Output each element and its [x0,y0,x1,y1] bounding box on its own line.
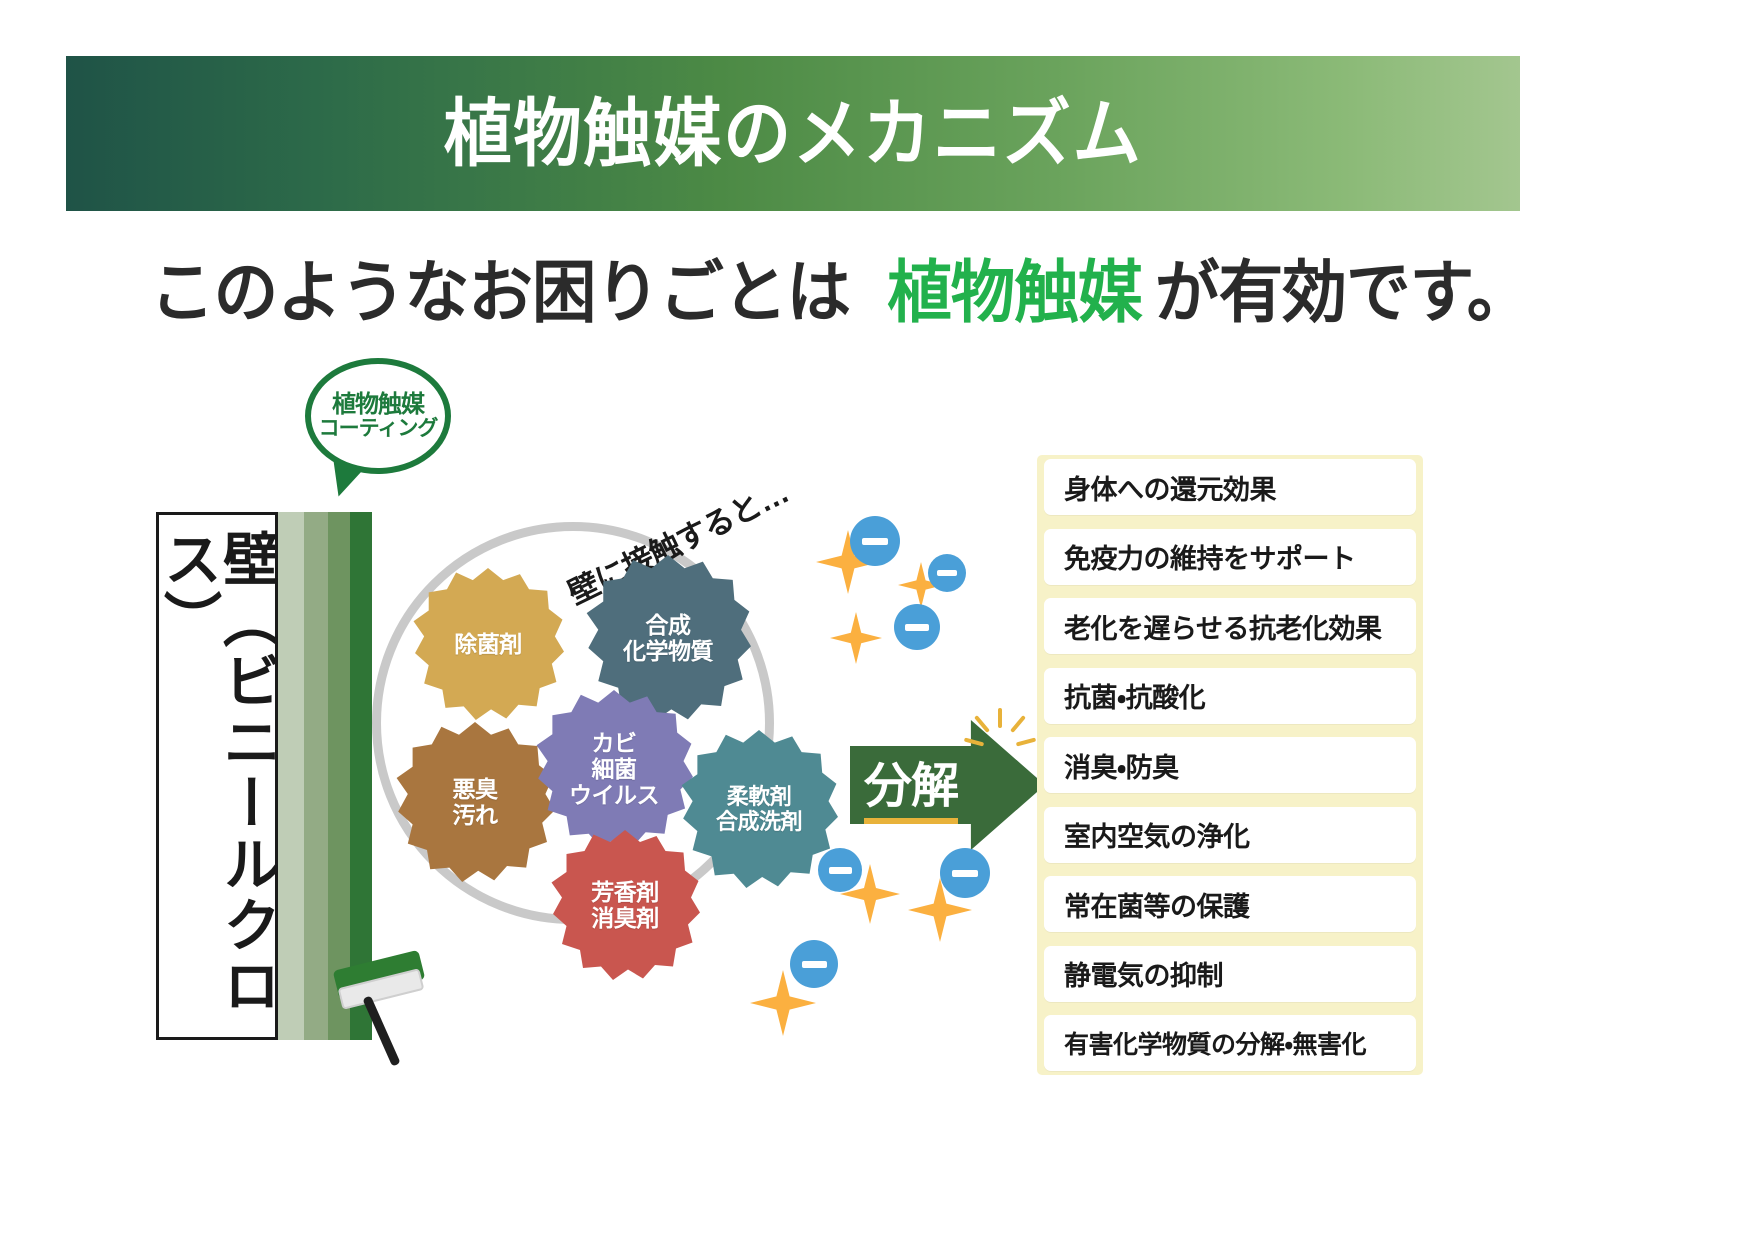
coating-badge-line1: 植物触媒 [332,392,424,417]
benefit-item[interactable]: 常在菌等の保護 [1044,876,1416,932]
subtitle-part2: が有効です。 [1155,237,1530,336]
benefit-item[interactable]: 抗菌・抗酸化 [1044,668,1416,724]
negative-ion-icon [818,848,862,892]
blob-gosei-line1: 合成 [646,612,691,638]
benefit-item[interactable]: 身体への還元効果 [1044,459,1416,515]
wall-layer-1 [278,512,304,1040]
blob-houkou-line1: 芳香剤 [591,879,659,905]
benefit-item[interactable]: 老化を遅らせる抗老化効果 [1044,598,1416,654]
wall-label-box: 壁（ビニールクロス） [156,512,278,1040]
decomposition-label: 分解 [864,746,958,825]
negative-ion-icon [850,516,900,566]
benefit-item[interactable]: 静電気の抑制 [1044,946,1416,1002]
negative-ion-icon [790,940,838,988]
blob-kabi-line1: カビ [592,730,637,756]
negative-ion-icon [894,604,940,650]
coating-badge: 植物触媒 コーティング [305,358,465,486]
blob-juunan-line2: 合成洗剤 [716,809,802,834]
blob-akushu-line2: 汚れ [453,802,498,828]
benefit-item[interactable]: 室内空気の浄化 [1044,807,1416,863]
blob-kabi-line2: 細菌 [592,756,637,782]
roller-handle-icon [362,995,400,1066]
sparkle-icon [830,612,882,664]
negative-ion-icon [928,554,966,592]
paint-roller-icon [325,950,455,1075]
header-banner: 植物触媒のメカニズム [66,56,1520,211]
benefit-item[interactable]: 消臭・防臭 [1044,737,1416,793]
page-title: 植物触媒のメカニズム [443,97,1142,171]
benefit-item[interactable]: 免疫力の維持をサポート [1044,529,1416,585]
blob-kabi-line3: ウイルス [569,782,659,808]
coating-badge-line2: コーティング [319,417,438,440]
benefit-item[interactable]: 有害化学物質の分解・無害化 [1044,1015,1416,1071]
blob-houkou-line2: 消臭剤 [591,905,659,931]
blob-akushu-line1: 悪臭 [453,776,498,802]
subtitle: このようなお困りごとは 植物触媒 が有効です。 [150,242,1450,330]
negative-ion-icon [940,848,990,898]
blob-juunan-line1: 柔軟剤 [727,784,792,809]
benefits-panel: 身体への還元効果 免疫力の維持をサポート 老化を遅らせる抗老化効果 抗菌・抗酸化… [1037,455,1423,1075]
coating-badge-circle: 植物触媒 コーティング [305,358,451,474]
arrow-sparkle-icon [972,708,1032,762]
blob-gosei-line2: 化学物質 [623,638,713,664]
subtitle-part1: このようなお困りごとは [150,237,850,336]
blob-jokinzai-line1: 除菌剤 [454,631,522,657]
wall-label: 壁（ビニールクロス） [158,529,276,1037]
subtitle-accent: 植物触媒 [887,237,1142,336]
